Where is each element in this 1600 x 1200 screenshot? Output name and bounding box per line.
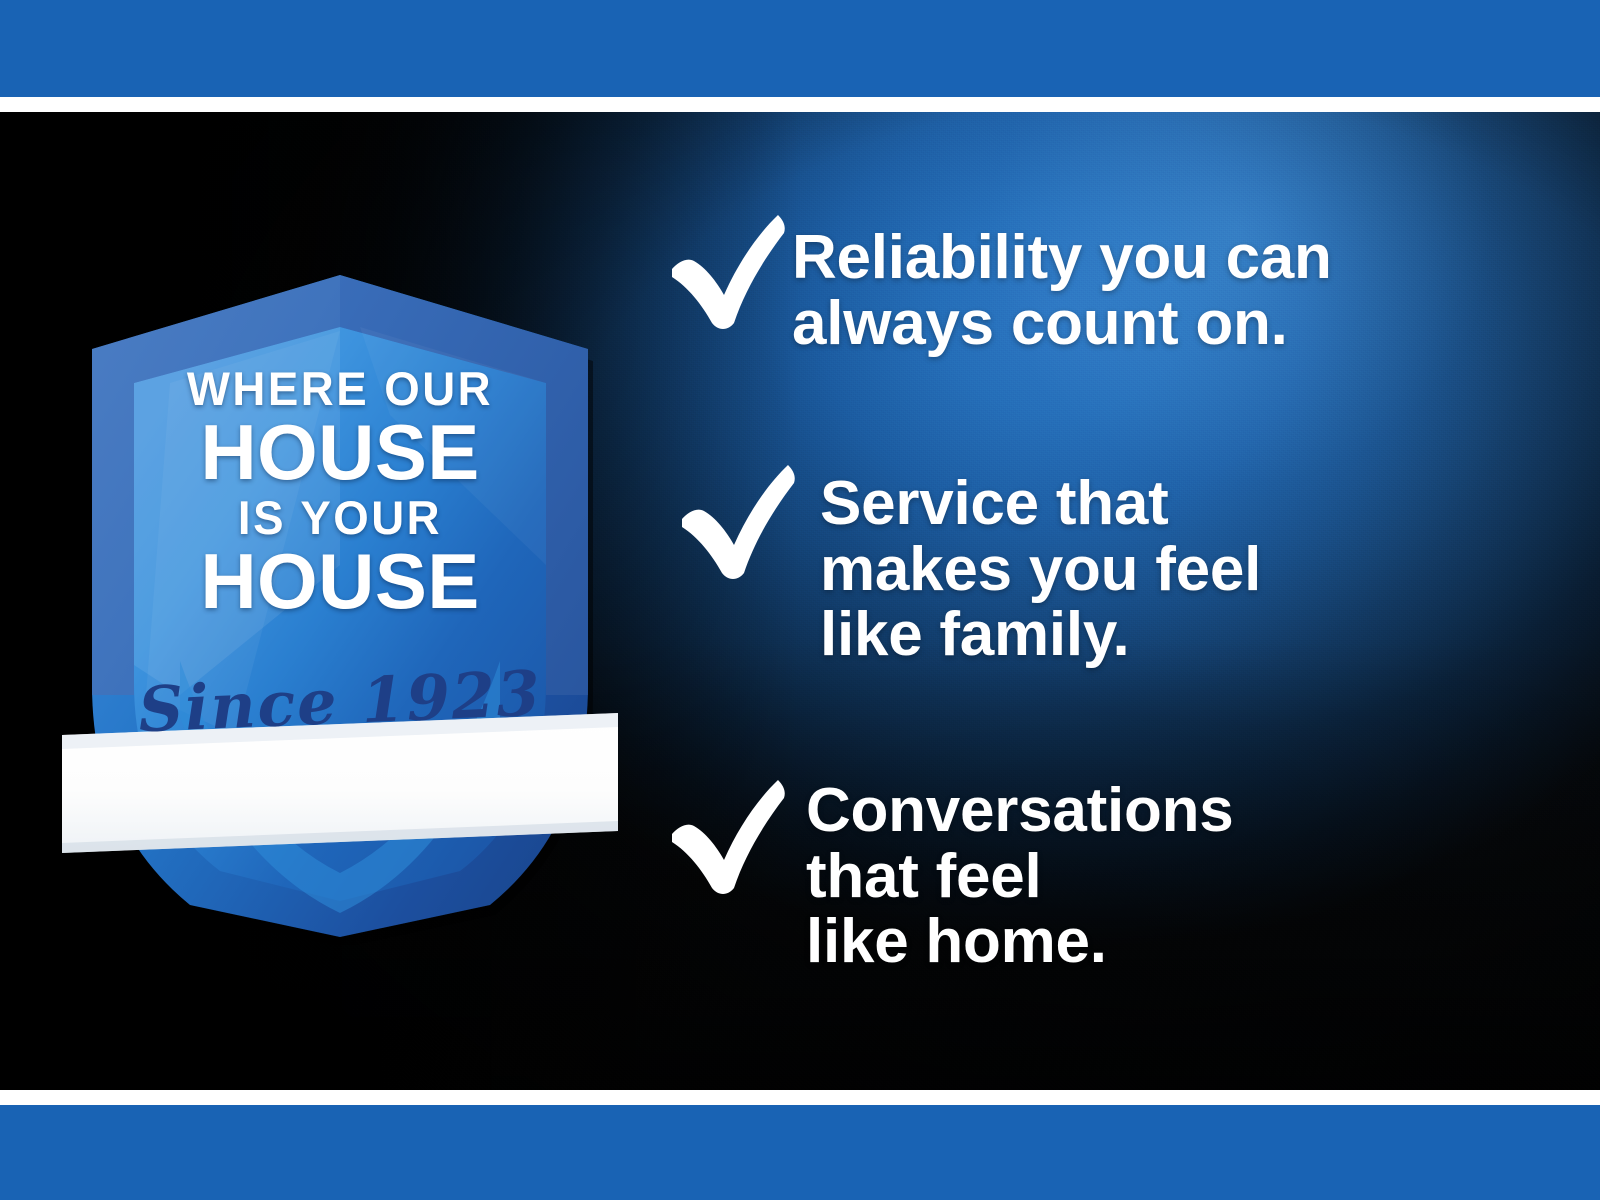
shield-logo: WHERE OUR HOUSE IS YOUR HOUSE Since 1923 — [60, 265, 620, 945]
top-brand-bar — [0, 0, 1600, 97]
benefit-text-1: Reliability you can always count on. — [792, 207, 1332, 356]
shield-graphic — [60, 265, 620, 945]
checkmark-icon — [670, 457, 802, 585]
benefits-list: Reliability you can always count on. Ser… — [660, 112, 1540, 1090]
benefit-item-2: Service that makes you feel like family. — [670, 457, 1261, 668]
benefit-item-3: Conversations that feel like home. — [660, 772, 1233, 975]
checkmark-icon — [660, 772, 792, 900]
benefit-item-1: Reliability you can always count on. — [660, 207, 1332, 356]
bottom-brand-bar — [0, 1105, 1600, 1200]
benefit-text-2: Service that makes you feel like family. — [820, 457, 1261, 668]
promo-billboard: WHERE OUR HOUSE IS YOUR HOUSE Since 1923… — [0, 0, 1600, 1200]
benefit-text-3: Conversations that feel like home. — [806, 772, 1233, 975]
checkmark-icon — [660, 207, 792, 335]
